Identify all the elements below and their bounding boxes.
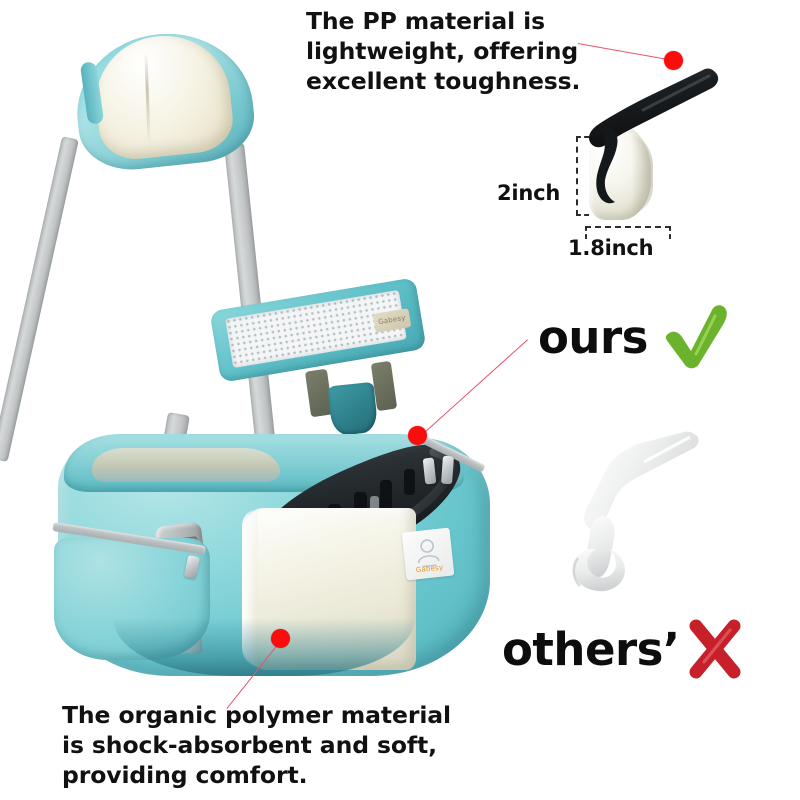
annotation-dot-pp-frame [408,426,427,445]
dimension-label-height: 2inch [497,181,560,205]
callout-text-pp-material: The PP material is lightweight, offering… [306,6,606,97]
cross-icon [684,618,746,680]
product-image-hip-seat-carrier: Gabesy [18,18,498,688]
verdict-others: others’ [502,618,746,680]
annotation-dot-polymer [271,629,290,648]
strap-connector-dark-teal [328,382,379,437]
verdict-ours-label: ours [538,315,648,360]
infographic-canvas: Gabesy [0,0,800,800]
height-dimension-bracket [576,136,589,216]
main-zipper-pull-2 [441,456,454,485]
verdict-ours: ours [538,304,730,370]
callout-text-polymer-material: The organic polymer material is shock-ab… [62,700,462,791]
dimension-label-width: 1.8inch [568,236,653,260]
check-icon [658,304,730,370]
competitor-white-hook-photo [548,406,728,596]
pp-clip-hook-jaw [593,124,629,208]
annotation-dot-pp-clip [664,51,683,70]
shoulder-strap-left-webbing [0,136,79,462]
name-tag-patch: Gabesy [402,528,455,581]
verdict-others-label: others’ [502,627,680,672]
